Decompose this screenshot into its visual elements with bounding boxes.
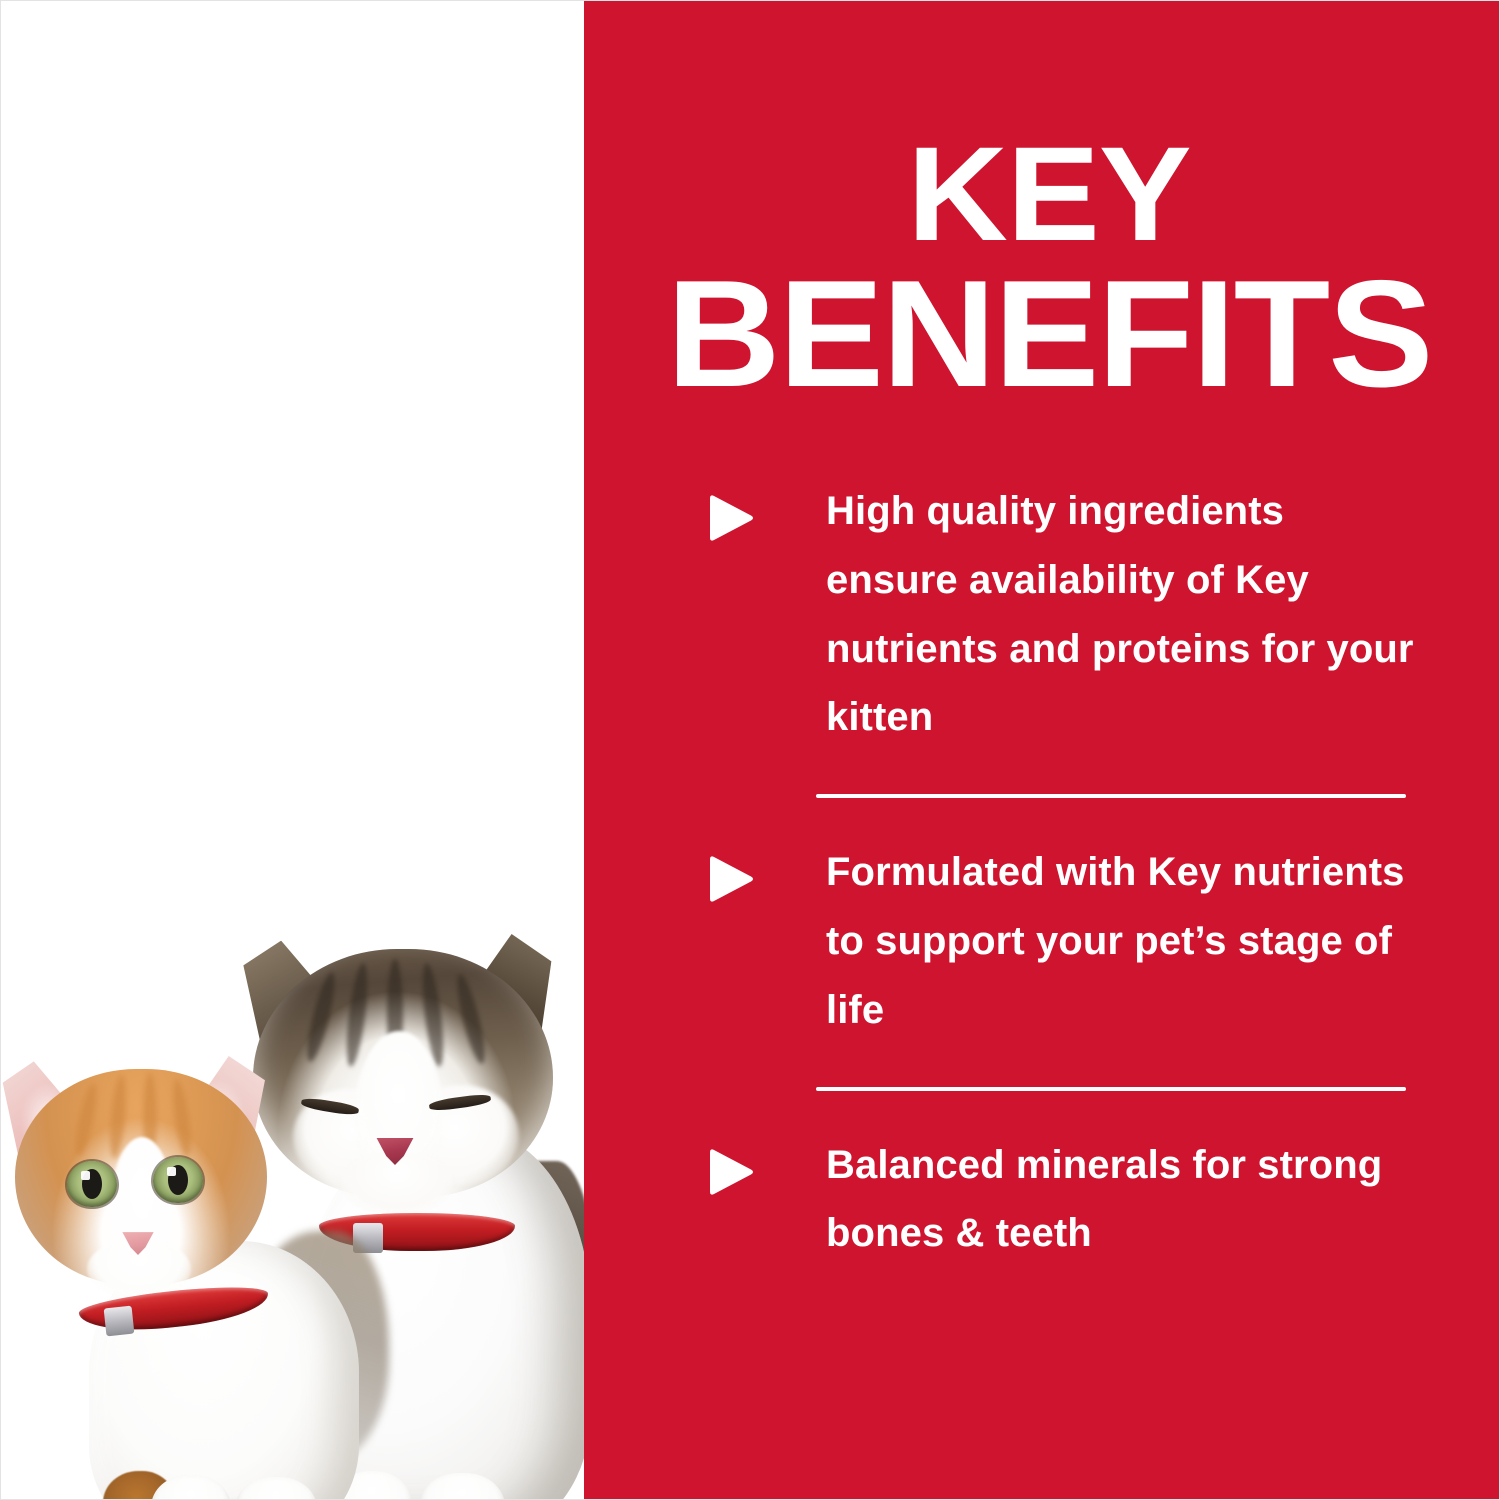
benefit-divider-2 <box>816 1087 1406 1091</box>
triangle-right-icon <box>704 493 756 543</box>
orange-kitten-eye-glint-right <box>167 1167 176 1176</box>
orange-kitten-eye-glint-left <box>81 1171 90 1180</box>
benefit-item-1: High quality ingredients ensure availabi… <box>584 477 1500 752</box>
orange-kitten-eye-right <box>153 1157 203 1203</box>
benefit-text-1: High quality ingredients ensure availabi… <box>826 477 1426 752</box>
orange-kitten-eye-left <box>67 1161 117 1207</box>
benefit-divider-1 <box>816 794 1406 798</box>
benefit-text-2: Formulated with Key nutrients to support… <box>826 838 1426 1044</box>
product-benefits-banner: KEY BENEFITS High quality ingredients en… <box>0 0 1500 1500</box>
photo-panel <box>1 1 584 1500</box>
benefit-item-3: Balanced minerals for strong bones & tee… <box>584 1131 1500 1269</box>
title-line-1: KEY <box>607 129 1491 260</box>
title-line-2: BENEFITS <box>607 260 1491 409</box>
page-title: KEY BENEFITS <box>607 129 1491 409</box>
key-benefits-panel: KEY BENEFITS High quality ingredients en… <box>584 1 1500 1500</box>
triangle-right-icon <box>704 854 756 904</box>
benefit-text-3: Balanced minerals for strong bones & tee… <box>826 1131 1426 1269</box>
benefit-item-2: Formulated with Key nutrients to support… <box>584 838 1500 1044</box>
benefits-list: High quality ingredients ensure availabi… <box>584 477 1500 1268</box>
orange-kitten-collar-buckle <box>104 1306 135 1337</box>
triangle-right-icon <box>704 1147 756 1197</box>
kittens-photo <box>1 471 584 1091</box>
